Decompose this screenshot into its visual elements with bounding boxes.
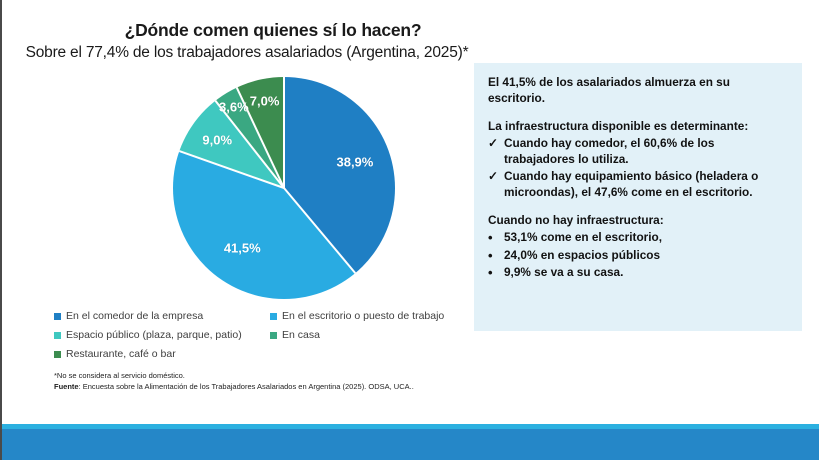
legend-swatch-icon <box>270 313 277 320</box>
footnotes: *No se considera al servicio doméstico. … <box>54 371 474 393</box>
insight-heading-1: La infraestructura disponible es determi… <box>488 119 788 135</box>
check-bullet-item: ✓ Cuando hay equipamiento básico (helade… <box>488 169 788 201</box>
dot-bullet-item: • 9,9% se va a su casa. <box>488 265 788 281</box>
dot-icon: • <box>488 230 504 246</box>
dot-bullet-text: 24,0% en espacios públicos <box>504 248 788 264</box>
insights-panel: El 41,5% de los asalariados almuerza en … <box>474 63 802 331</box>
pie-slice-label: 9,0% <box>202 133 232 148</box>
legend-label: En el comedor de la empresa <box>66 310 203 322</box>
dot-bullet-text: 53,1% come en el escritorio, <box>504 230 788 246</box>
check-bullet-text: Cuando hay equipamiento básico (heladera… <box>504 169 788 201</box>
slide: ¿Dónde comen quienes sí lo hacen? Sobre … <box>0 0 819 460</box>
pie-slice-label: 3,6% <box>219 99 249 114</box>
pie-slice-label: 38,9% <box>336 155 373 170</box>
source-label: Fuente <box>54 382 79 391</box>
legend-label: En casa <box>282 329 320 341</box>
insight-heading-2: Cuando no hay infraestructura: <box>488 213 788 229</box>
check-bullet-item: ✓ Cuando hay comedor, el 60,6% de los tr… <box>488 136 788 168</box>
check-icon: ✓ <box>488 169 504 185</box>
check-bullet-text: Cuando hay comedor, el 60,6% de los trab… <box>504 136 788 168</box>
dot-icon: • <box>488 265 504 281</box>
pie-slice-divider <box>283 77 285 188</box>
legend-item-comedor: En el comedor de la empresa <box>54 310 270 322</box>
legend-label: Espacio público (plaza, parque, patio) <box>66 329 242 341</box>
pie-chart: 38,9%41,5%9,0%3,6%7,0% <box>42 72 462 302</box>
pie-slice-divider <box>283 187 356 273</box>
legend-item-casa: En casa <box>270 329 320 341</box>
chart-legend: En el comedor de la empresa En el escrit… <box>54 310 464 367</box>
pie-slice-label: 7,0% <box>250 94 280 109</box>
legend-row: Espacio público (plaza, parque, patio) E… <box>54 329 464 341</box>
spacer <box>488 201 788 213</box>
legend-swatch-icon <box>270 332 277 339</box>
pie-graphic: 38,9%41,5%9,0%3,6%7,0% <box>173 77 395 299</box>
dot-icon: • <box>488 248 504 264</box>
legend-label: En el escritorio o puesto de trabajo <box>282 310 444 322</box>
dot-bullet-item: • 24,0% en espacios públicos <box>488 248 788 264</box>
page-title: ¿Dónde comen quienes sí lo hacen? <box>58 20 488 41</box>
legend-row: En el comedor de la empresa En el escrit… <box>54 310 464 322</box>
footnote-source: Fuente: Encuesta sobre la Alimentación d… <box>54 382 474 393</box>
insight-paragraph-1: El 41,5% de los asalariados almuerza en … <box>488 75 788 107</box>
legend-item-escritorio: En el escritorio o puesto de trabajo <box>270 310 444 322</box>
pie-slice-label: 41,5% <box>224 241 261 256</box>
dot-bullet-text: 9,9% se va a su casa. <box>504 265 788 281</box>
legend-item-espacio-publico: Espacio público (plaza, parque, patio) <box>54 329 270 341</box>
page-subtitle: Sobre el 77,4% de los trabajadores asala… <box>12 44 482 62</box>
source-text: : Encuesta sobre la Alimentación de los … <box>79 382 414 391</box>
legend-row: Restaurante, café o bar <box>54 348 464 360</box>
check-icon: ✓ <box>488 136 504 152</box>
legend-swatch-icon <box>54 332 61 339</box>
legend-label: Restaurante, café o bar <box>66 348 176 360</box>
dot-bullet-item: • 53,1% come en el escritorio, <box>488 230 788 246</box>
footnote-note: *No se considera al servicio doméstico. <box>54 371 474 382</box>
legend-item-restaurante: Restaurante, café o bar <box>54 348 270 360</box>
footer-bar <box>2 429 819 460</box>
legend-swatch-icon <box>54 313 61 320</box>
legend-swatch-icon <box>54 351 61 358</box>
